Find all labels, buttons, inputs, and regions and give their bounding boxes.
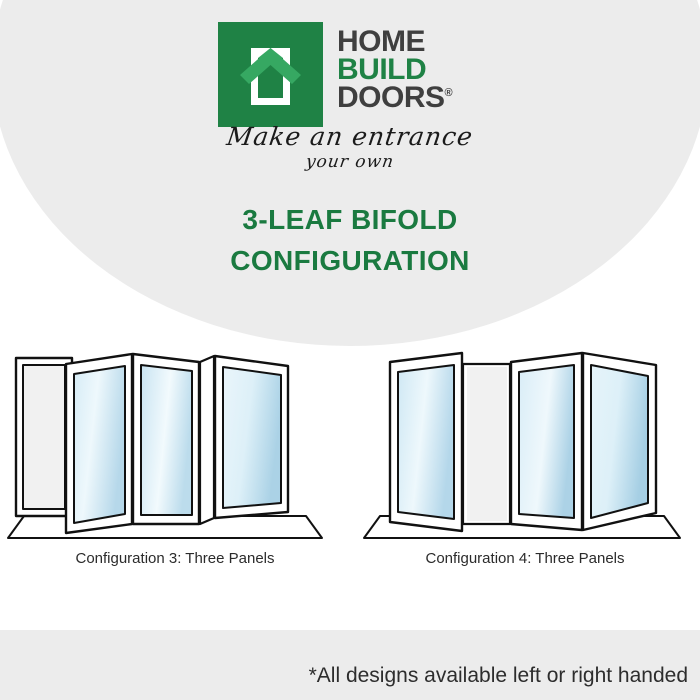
logo-word-doors-wrap: DOORS® <box>337 84 452 112</box>
door-panel-4 <box>583 353 656 530</box>
logo-word-doors: DOORS <box>337 81 445 114</box>
diagram-configuration-4: Configuration 4: Three Panels <box>350 348 700 588</box>
door-panel-2 <box>66 354 132 533</box>
configuration-diagrams: Configuration 3: Three Panels <box>0 348 700 588</box>
door-panel-1 <box>390 353 462 531</box>
door-panel-3 <box>511 353 582 530</box>
diagram-caption-configuration-4: Configuration 4: Three Panels <box>350 550 700 567</box>
diagram-configuration-3: Configuration 3: Three Panels <box>0 348 350 588</box>
door-panel-3 <box>133 354 199 524</box>
page-title: 3-LEAF BIFOLD CONFIGURATION <box>0 200 700 281</box>
house-door-icon <box>218 22 323 127</box>
logo-lockup: HOME BUILD DOORS® <box>218 22 452 127</box>
infographic-page: HOME BUILD DOORS® Make an entrance your … <box>0 0 700 700</box>
page-title-line-2: CONFIGURATION <box>0 241 700 282</box>
logo-wordmark: HOME BUILD DOORS® <box>337 22 452 112</box>
door-panel-4 <box>200 356 288 524</box>
footer-note: *All designs available left or right han… <box>309 664 688 688</box>
registered-trademark-icon: ® <box>445 87 453 99</box>
logo-word-build: BUILD <box>337 56 452 84</box>
logo-word-home: HOME <box>337 28 452 56</box>
door-panel-2 <box>463 364 510 524</box>
door-panel-1 <box>16 358 72 516</box>
diagram-caption-configuration-3: Configuration 3: Three Panels <box>0 550 350 567</box>
page-title-line-1: 3-LEAF BIFOLD <box>0 200 700 241</box>
